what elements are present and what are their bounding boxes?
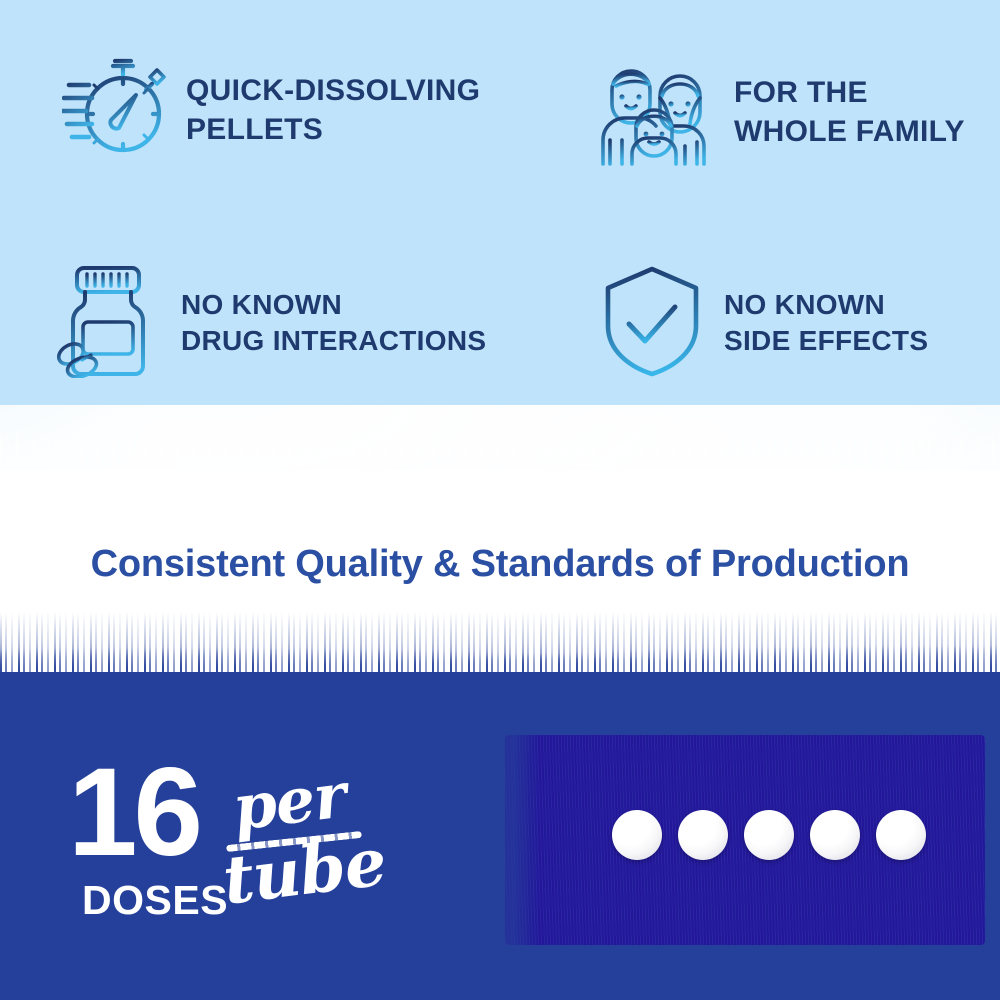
pellet-icon (810, 810, 860, 860)
benefit-label: QUICK-DISSOLVING PELLETS (186, 72, 480, 149)
benefit-no-known-drug-interactions: NO KNOWN DRUG INTERACTIONS (55, 262, 486, 383)
pellet-icon (612, 810, 662, 860)
pellet-icon (744, 810, 794, 860)
pill-bottle-icon (55, 262, 161, 383)
benefit-label: NO KNOWN DRUG INTERACTIONS (181, 287, 486, 359)
stopwatch-icon (62, 52, 166, 169)
page-title: Consistent Quality & Standards of Produc… (0, 543, 1000, 586)
family-icon (596, 52, 714, 173)
benefit-label: NO KNOWN SIDE EFFECTS (724, 287, 928, 359)
promo-infographic: QUICK-DISSOLVING PELLETS (0, 0, 1000, 1000)
benefits-grid: QUICK-DISSOLVING PELLETS (0, 0, 1000, 410)
benefit-label: FOR THE WHOLE FAMILY (734, 74, 965, 151)
dose-count: 16 (68, 750, 199, 875)
pellet-icon (876, 810, 926, 860)
dose-unit: DOSES (82, 877, 228, 924)
benefit-quick-dissolving-pellets: QUICK-DISSOLVING PELLETS (62, 52, 480, 169)
pellet-row (612, 810, 926, 860)
benefit-for-the-whole-family: FOR THE WHOLE FAMILY (596, 52, 965, 173)
benefit-no-known-side-effects: NO KNOWN SIDE EFFECTS (600, 262, 928, 383)
pellet-icon (678, 810, 728, 860)
dose-lockup: 16 DOSES per tube (68, 760, 488, 940)
shield-check-icon (600, 262, 704, 383)
